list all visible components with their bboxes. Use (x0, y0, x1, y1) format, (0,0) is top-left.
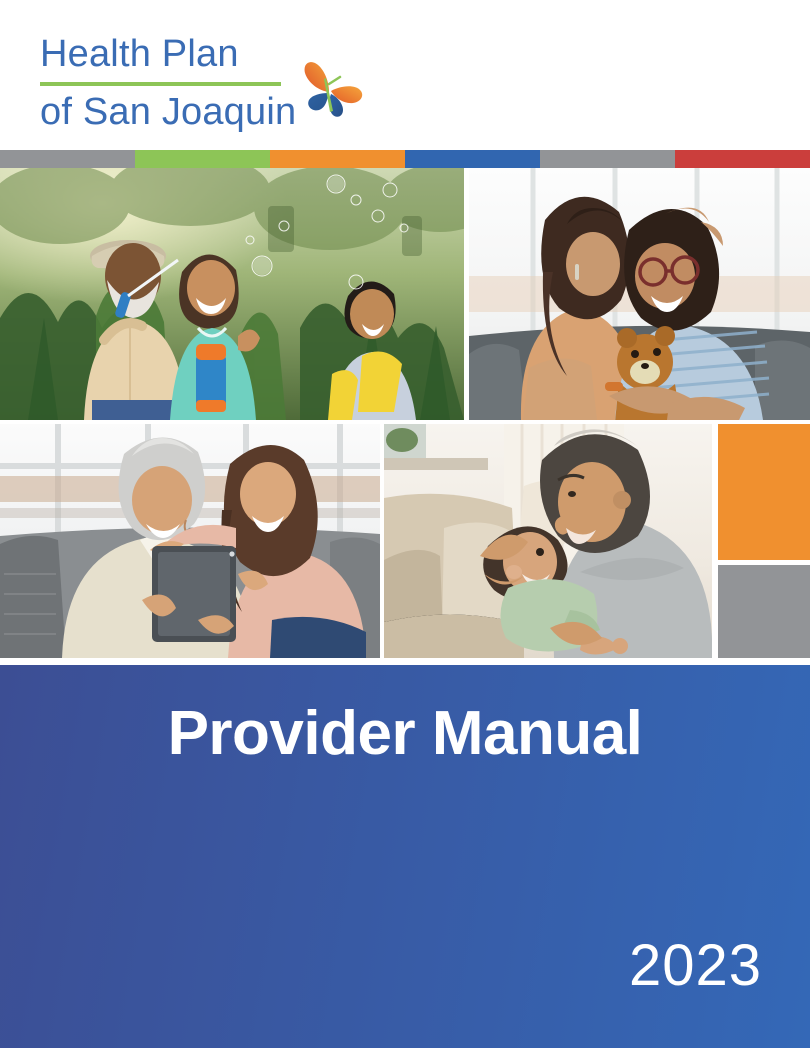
color-segment-gray-1 (0, 150, 135, 168)
page-title: Provider Manual (0, 698, 810, 769)
accent-block-orange (718, 424, 810, 560)
photo-mother-daughter-teddy (469, 168, 810, 420)
logo-line-2: of San Joaquin (40, 90, 330, 134)
color-segment-blue (405, 150, 540, 168)
color-segment-orange (270, 150, 405, 168)
accent-block-gray (718, 565, 810, 658)
photo-senior-tablet (0, 424, 380, 658)
cover-photo-collage (0, 168, 810, 665)
color-segment-green (135, 150, 270, 168)
butterfly-icon (296, 58, 364, 124)
logo-line-1: Health Plan (40, 32, 330, 76)
photo-family-bubbles (0, 168, 464, 420)
logo-green-rule (40, 82, 281, 86)
color-segment-red (675, 150, 810, 168)
organization-logo: Health Plan of San Joaquin (40, 32, 330, 142)
title-banner: Provider Manual 2023 (0, 665, 810, 1048)
photo-father-baby (384, 424, 712, 658)
brand-color-bar (0, 150, 810, 168)
cover-header: Health Plan of San Joaquin (0, 0, 810, 150)
color-segment-gray-2 (540, 150, 675, 168)
publication-year: 2023 (629, 932, 762, 999)
